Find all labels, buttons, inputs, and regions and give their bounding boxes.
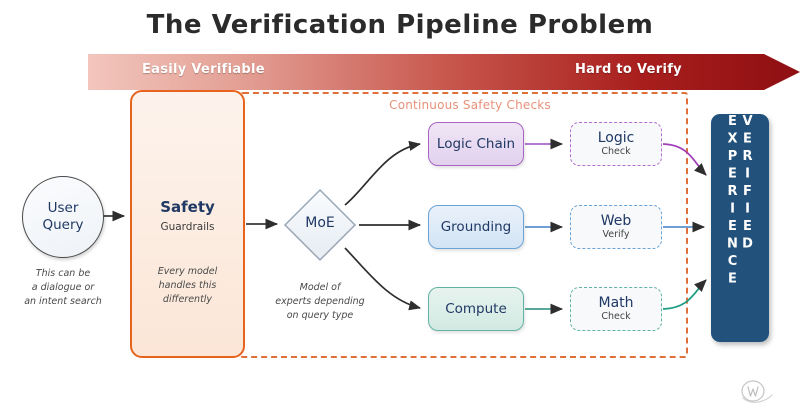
user-query-note: This can be a dialogue or an intent sear…: [8, 267, 118, 308]
verified-experience-label-wrap: VERIFIED EXPERIENCE: [711, 114, 769, 342]
user-query-line2: Query: [42, 217, 83, 234]
verifier-box-math-check[interactable]: Math Check: [570, 287, 662, 331]
expert-label: Logic Chain: [437, 136, 515, 152]
verifier-title: Math: [598, 295, 633, 311]
moe-note: Model of experts depending on query type: [268, 281, 372, 322]
user-query-node[interactable]: User Query: [22, 176, 104, 258]
verifier-box-web-verify[interactable]: Web Verify: [570, 205, 662, 249]
continuous-safety-checks-label: Continuous Safety Checks: [355, 98, 585, 112]
expert-label: Compute: [445, 301, 507, 317]
verified-experience-label: VERIFIED EXPERIENCE: [725, 114, 755, 342]
verifier-box-logic-check[interactable]: Logic Check: [570, 122, 662, 166]
diagram-canvas: The Verification Pipeline Problem Easily…: [0, 0, 800, 419]
verifier-title: Logic: [598, 130, 635, 146]
verifier-subtitle: Check: [601, 311, 630, 322]
expert-label: Grounding: [441, 219, 512, 235]
verifier-subtitle: Check: [601, 146, 630, 157]
page-title: The Verification Pipeline Problem: [0, 10, 800, 40]
spectrum-label-right: Hard to Verify: [575, 62, 682, 77]
expert-box-logic-chain[interactable]: Logic Chain: [428, 122, 524, 166]
moe-label: MoE: [283, 215, 357, 231]
verifier-subtitle: Verify: [603, 229, 630, 240]
signature-watermark-icon: [738, 378, 778, 410]
expert-box-compute[interactable]: Compute: [428, 287, 524, 331]
safety-subtitle: Guardrails: [130, 221, 245, 233]
expert-box-grounding[interactable]: Grounding: [428, 205, 524, 249]
verifier-title: Web: [601, 213, 632, 229]
safety-title: Safety: [130, 198, 245, 216]
safety-note: Every model handles this differently: [136, 265, 239, 306]
user-query-line1: User: [48, 200, 79, 217]
spectrum-label-left: Easily Verifiable: [142, 62, 265, 77]
